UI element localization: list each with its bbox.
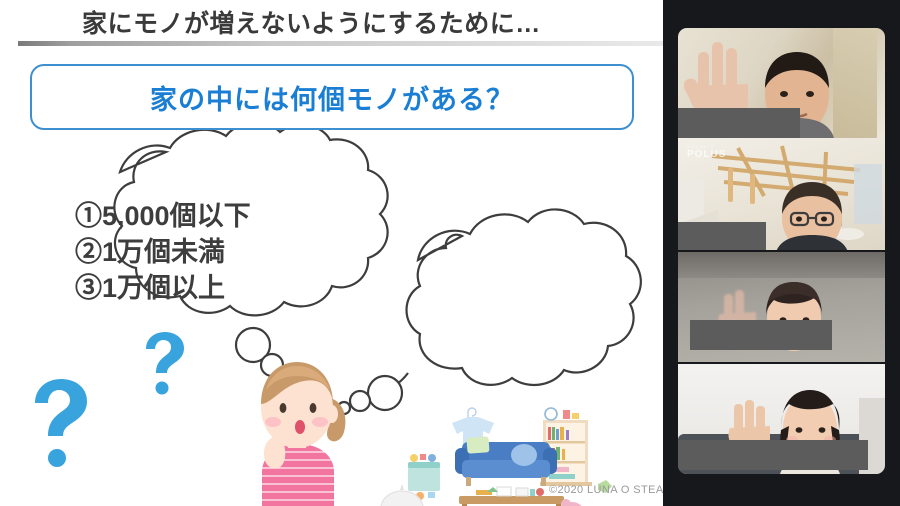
option-line-3: ③1万個以上 bbox=[75, 272, 225, 303]
option-line-1: ①5,000個以下 bbox=[75, 200, 251, 231]
video-tile-1[interactable] bbox=[678, 28, 885, 138]
plush-toy-icon bbox=[561, 499, 583, 506]
title-divider bbox=[18, 41, 663, 46]
tile-2-person bbox=[766, 180, 858, 250]
slide-illustration: ①5,000個以下 ②1万個未満 ③1万個以上 bbox=[0, 130, 663, 506]
tile-3-ceiling bbox=[678, 252, 885, 278]
copyright-notice: ©2020 LUNA O STEA bbox=[549, 484, 663, 496]
thinking-woman-illustration bbox=[261, 362, 345, 506]
page-title: 家にモノが増えないようにするために… bbox=[82, 4, 541, 40]
tile-2-name-redaction bbox=[678, 222, 766, 250]
video-tile-3[interactable] bbox=[678, 252, 885, 362]
video-conference-rail: ポラスグループPOLUS bbox=[663, 0, 900, 506]
question-mark-large bbox=[35, 379, 87, 467]
cushion-icon bbox=[381, 491, 423, 506]
sofa-icon bbox=[455, 436, 557, 486]
question-mark-small bbox=[146, 332, 184, 395]
option-line-2: ②1万個未満 bbox=[75, 236, 225, 267]
tile-1-name-redaction bbox=[678, 108, 800, 138]
options-bubble-trail bbox=[236, 328, 283, 376]
room-thought-bubble bbox=[407, 209, 641, 385]
question-mark-group bbox=[35, 332, 184, 467]
video-tile-4[interactable] bbox=[678, 364, 885, 474]
room-bubble-trail bbox=[338, 373, 408, 414]
tile-4-name-redaction bbox=[678, 440, 868, 470]
slide-screenshot: 家にモノが増えないようにするために… 家の中には何個モノがある？ ①5,000個… bbox=[0, 0, 900, 506]
tile-3-name-redaction bbox=[690, 320, 832, 350]
question-text: 家の中には何個モノがある？ bbox=[150, 78, 514, 117]
question-callout-box: 家の中には何個モノがある？ bbox=[30, 64, 634, 130]
video-tile-2[interactable]: ポラスグループPOLUS bbox=[678, 138, 885, 250]
presentation-slide: 家にモノが増えないようにするために… 家の中には何個モノがある？ ①5,000個… bbox=[0, 0, 663, 506]
tile-2-watermark: ポラスグループPOLUS bbox=[687, 146, 726, 160]
